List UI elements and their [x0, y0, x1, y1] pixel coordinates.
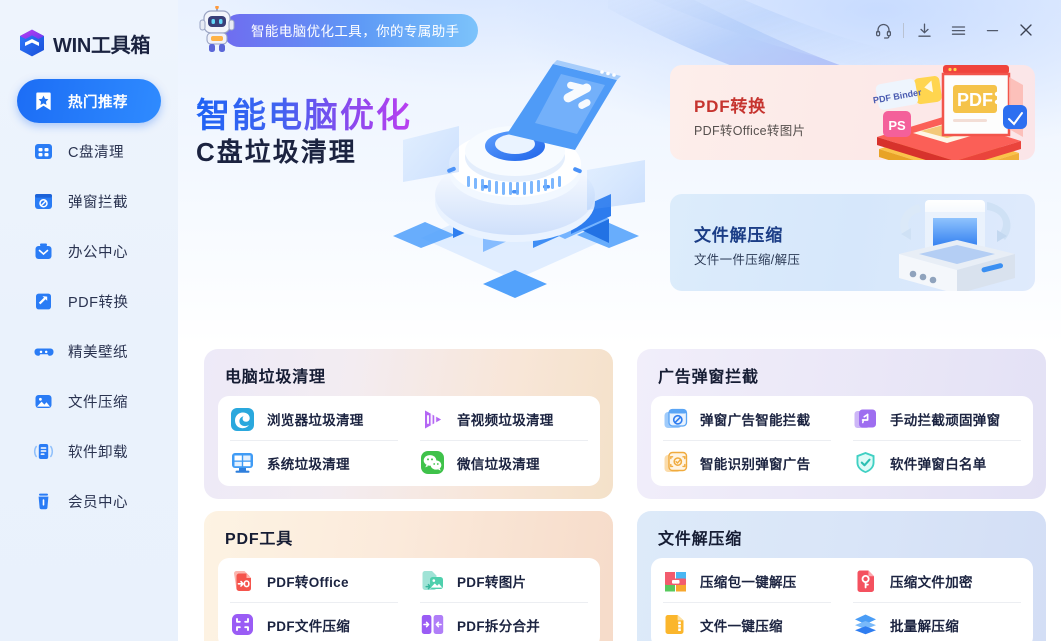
svg-text:PDF: PDF [957, 90, 993, 110]
assistant-banner[interactable]: 智能电脑优化工具，你的专属助手 [195, 12, 478, 48]
sidebar-item-office[interactable]: 办公中心 [17, 229, 161, 273]
tile-pdf-to-image[interactable]: PDF转图片 [420, 560, 588, 603]
promo-title: PDF转换 [694, 92, 766, 117]
uninstall-book-icon [33, 441, 54, 462]
tile-pdf-split-merge[interactable]: PDF拆分合并 [420, 603, 588, 641]
minimize-button[interactable] [975, 13, 1009, 47]
manual-block-icon [853, 407, 878, 432]
feature-cards-grid: 电脑垃圾清理 浏览器垃圾清理 [178, 345, 1061, 641]
promo-column: PDF转换 PDF转Office转图片 [670, 60, 1061, 345]
block-popup-icon [33, 191, 54, 212]
tile-archive-extract[interactable]: 压缩包一键解压 [663, 560, 831, 603]
isometric-optimize-illustration-icon [363, 52, 668, 307]
pdf-split-merge-icon [420, 612, 445, 637]
tile-grid: 压缩包一键解压 压缩文件加密 [663, 560, 1021, 641]
tile-file-compress[interactable]: 文件一键压缩 [663, 603, 831, 641]
tile-label: 软件弹窗白名单 [890, 453, 987, 473]
tile-label: 微信垃圾清理 [457, 453, 540, 473]
card-body: PDF转Office [218, 558, 600, 641]
sidebar-item-compress[interactable]: 文件压缩 [17, 379, 161, 423]
card-title: 广告弹窗拦截 [658, 363, 1033, 387]
tile-media-junk[interactable]: 音视频垃圾清理 [420, 398, 588, 441]
svg-text:PS: PS [888, 118, 906, 133]
promo-title: 文件解压缩 [694, 221, 783, 246]
image-mountain-icon [33, 391, 54, 412]
sidebar-item-label: 弹窗拦截 [68, 191, 128, 212]
trash-member-icon [33, 491, 54, 512]
tile-grid: 弹窗广告智能拦截 手动拦截顽固弹窗 [663, 398, 1021, 484]
brand: WIN工具箱 [0, 0, 178, 62]
main-content: 智能电脑优化工具，你的专属助手 [178, 0, 1061, 641]
bookmark-star-icon [33, 91, 54, 112]
promo-desc: PDF转Office转图片 [694, 120, 805, 139]
download-icon [916, 22, 933, 39]
download-button[interactable] [907, 13, 941, 47]
archive-box-icon [663, 569, 688, 594]
menu-button[interactable] [941, 13, 975, 47]
tile-label: 文件一键压缩 [700, 615, 783, 635]
sidebar-item-label: 软件卸载 [68, 441, 128, 462]
tile-system-junk[interactable]: 系统垃圾清理 [230, 441, 398, 484]
card-body: 弹窗广告智能拦截 手动拦截顽固弹窗 [651, 396, 1033, 486]
tile-label: 智能识别弹窗广告 [700, 453, 810, 473]
sidebar-item-pdf[interactable]: PDF转换 [17, 279, 161, 323]
popup-block-icon [663, 407, 688, 432]
tile-smart-detect[interactable]: 智能识别弹窗广告 [663, 441, 831, 484]
hamburger-menu-icon [950, 22, 967, 39]
close-icon [1017, 21, 1035, 39]
hero-subtitle: C盘垃圾清理 [196, 132, 357, 169]
pdf-to-image-icon [420, 569, 445, 594]
robot-mascot-icon [195, 6, 239, 54]
tile-whitelist[interactable]: 软件弹窗白名单 [853, 441, 1021, 484]
tile-label: 批量解压缩 [890, 615, 959, 635]
card-title: PDF工具 [225, 525, 600, 549]
card-body: 浏览器垃圾清理 [218, 396, 600, 486]
assistant-text: 智能电脑优化工具，你的专属助手 [223, 14, 478, 47]
sidebar-item-label: 文件压缩 [68, 391, 128, 412]
sidebar-item-label: PDF转换 [68, 291, 129, 312]
promo-card-zip[interactable]: 文件解压缩 文件一件压缩/解压 [670, 194, 1035, 291]
sidebar: WIN工具箱 热门推荐 [0, 0, 178, 641]
sidebar-item-member[interactable]: 会员中心 [17, 479, 161, 523]
tile-manual-block[interactable]: 手动拦截顽固弹窗 [853, 398, 1021, 441]
tile-popup-auto-block[interactable]: 弹窗广告智能拦截 [663, 398, 831, 441]
card-pdf-tools: PDF工具 [204, 511, 613, 641]
wallpaper-gamepad-icon [33, 341, 54, 362]
headset-icon [875, 22, 892, 39]
pdf-convert-arrow-icon [33, 291, 54, 312]
wechat-icon [420, 450, 445, 475]
sidebar-item-cdrive[interactable]: C盘清理 [17, 129, 161, 173]
shield-check-icon [853, 450, 878, 475]
archive-lock-icon [853, 569, 878, 594]
hero-section: 智能电脑优化 C盘垃圾清理 [178, 60, 1061, 345]
pdf-compress-icon [230, 612, 255, 637]
tile-label: 系统垃圾清理 [267, 453, 350, 473]
tile-archive-encrypt[interactable]: 压缩文件加密 [853, 560, 1021, 603]
layers-stack-icon [853, 612, 878, 637]
minimize-icon [984, 22, 1001, 39]
tile-grid: PDF转Office [230, 560, 588, 641]
media-play-icon [420, 407, 445, 432]
win-toolbox-logo-icon [17, 28, 47, 58]
app-window: WIN工具箱 热门推荐 [0, 0, 1061, 641]
close-button[interactable] [1009, 13, 1043, 47]
zip-folder-illustration-icon [861, 194, 1029, 291]
pdf-to-office-icon [230, 569, 255, 594]
edge-browser-icon [230, 407, 255, 432]
pdf-stack-illustration-icon: PDF PDF Binder PS [851, 65, 1029, 160]
windows-monitor-icon [230, 450, 255, 475]
card-body: 压缩包一键解压 压缩文件加密 [651, 558, 1033, 641]
support-headset-button[interactable] [866, 13, 900, 47]
tile-label: 音视频垃圾清理 [457, 409, 554, 429]
tile-label: 弹窗广告智能拦截 [700, 409, 810, 429]
card-archive-tools: 文件解压缩 [637, 511, 1046, 641]
promo-desc: 文件一件压缩/解压 [694, 249, 800, 268]
tile-label: PDF文件压缩 [267, 615, 350, 635]
sidebar-item-popup-block[interactable]: 弹窗拦截 [17, 179, 161, 223]
card-ad-popup-block: 广告弹窗拦截 [637, 349, 1046, 499]
sidebar-item-label: 精美壁纸 [68, 341, 128, 362]
tile-wechat-junk[interactable]: 微信垃圾清理 [420, 441, 588, 484]
sidebar-item-wallpaper[interactable]: 精美壁纸 [17, 329, 161, 373]
tile-batch-extract[interactable]: 批量解压缩 [853, 603, 1021, 641]
tile-pdf-to-office[interactable]: PDF转Office [230, 560, 398, 603]
tile-browser-junk[interactable]: 浏览器垃圾清理 [230, 398, 398, 441]
tile-label: PDF拆分合并 [457, 615, 540, 635]
titlebar: 智能电脑优化工具，你的专属助手 [178, 0, 1061, 60]
tile-label: 手动拦截顽固弹窗 [890, 409, 1000, 429]
hero-left: 智能电脑优化 C盘垃圾清理 [178, 60, 670, 345]
tile-label: 压缩包一键解压 [700, 571, 797, 591]
grid-squares-icon [33, 141, 54, 162]
promo-card-pdf[interactable]: PDF转换 PDF转Office转图片 [670, 65, 1035, 160]
card-title: 文件解压缩 [658, 525, 1033, 549]
control-separator [903, 23, 904, 38]
tile-label: PDF转图片 [457, 571, 526, 591]
brand-name: WIN工具箱 [53, 29, 150, 58]
card-pc-junk-clean: 电脑垃圾清理 浏览器垃圾清理 [204, 349, 613, 499]
sidebar-nav: 热门推荐 C盘清理 [0, 79, 178, 523]
smart-detect-icon [663, 450, 688, 475]
sidebar-item-uninstall[interactable]: 软件卸载 [17, 429, 161, 473]
tile-pdf-compress[interactable]: PDF文件压缩 [230, 603, 398, 641]
sidebar-item-hot[interactable]: 热门推荐 [17, 79, 161, 123]
folder-zip-icon [663, 612, 688, 637]
sidebar-item-label: 热门推荐 [68, 91, 128, 112]
window-controls [866, 13, 1061, 47]
tile-grid: 浏览器垃圾清理 [230, 398, 588, 484]
tile-label: PDF转Office [267, 571, 349, 591]
sidebar-item-label: 办公中心 [68, 241, 128, 262]
card-title: 电脑垃圾清理 [225, 363, 600, 387]
tile-label: 压缩文件加密 [890, 571, 973, 591]
sidebar-item-label: 会员中心 [68, 491, 128, 512]
tile-label: 浏览器垃圾清理 [267, 409, 364, 429]
sidebar-item-label: C盘清理 [68, 141, 124, 162]
briefcase-icon [33, 241, 54, 262]
